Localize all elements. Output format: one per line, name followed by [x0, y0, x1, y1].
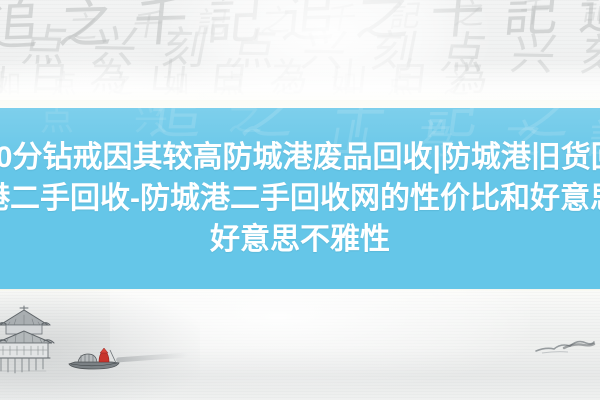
headline-text-block: 50分钻戒因其较高防城港废品回收|防城港旧货回 城港二手回收-防城港二手回收网的… — [0, 108, 600, 289]
fishing-boat-icon — [66, 347, 122, 373]
headline-line-1: 50分钻戒因其较高防城港废品回收|防城港旧货回 — [0, 138, 600, 177]
headline-line-2: 城港二手回收-防城港二手回收网的性价比和好意思不 — [0, 179, 600, 218]
cream-divider-strip — [0, 100, 600, 108]
banner-image: 追之千記追之千記追之 点兴刻点兴刻点兴刻 山白為山白為山白為 之千記之千記之千記… — [0, 0, 600, 400]
distant-shore-ink — [534, 331, 596, 357]
blue-headline-banner: 追之千記之 山為之記 点兴之 50分钻戒因其较高防城港废品回收|防城港旧货回 城… — [0, 108, 600, 289]
headline-line-3: 好意思不雅性 — [210, 220, 390, 259]
calligraphy-watermark-panel: 追之千記追之千記追之 点兴刻点兴刻点兴刻 山白為山白為山白為 之千記之千記之千記… — [0, 0, 600, 108]
ink-wash-landscape — [0, 289, 600, 400]
pavilion-icon — [0, 301, 58, 375]
